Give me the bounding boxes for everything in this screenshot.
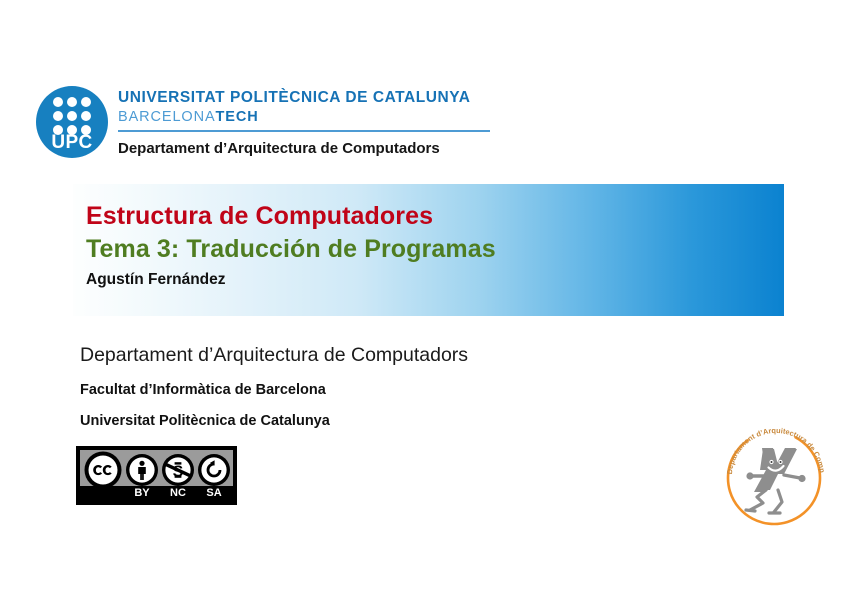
- barcelonatech-brand: BARCELONATECH: [118, 108, 548, 126]
- mascot-hand-left: [746, 472, 753, 479]
- upc-dot: [67, 97, 77, 107]
- cc-label-sa: SA: [196, 486, 232, 501]
- upc-dot: [81, 97, 91, 107]
- upc-dot: [53, 111, 63, 121]
- university-name: UNIVERSITAT POLITÈCNICA DE CATALUNYA: [118, 88, 548, 107]
- upc-wordmark-block: UNIVERSITAT POLITÈCNICA DE CATALUNYA BAR…: [118, 88, 548, 158]
- brand-suffix: TECH: [216, 109, 259, 125]
- cc-icon: [85, 452, 122, 489]
- upc-logo-wordmark: UPC: [36, 133, 108, 152]
- upc-dot: [67, 111, 77, 121]
- mascot-legs: [750, 490, 782, 512]
- nc-nocommercial-icon: S: [162, 454, 194, 486]
- brand-prefix: BARCELONA: [118, 109, 216, 125]
- author-name: Agustín Fernández: [86, 269, 496, 290]
- upc-dot-grid-icon: [53, 97, 91, 135]
- cc-label-nc: NC: [160, 486, 196, 501]
- header-divider: [118, 130, 490, 132]
- creative-commons-license-badge[interactable]: S BY NC SA: [76, 446, 237, 505]
- upc-header: UPC UNIVERSITAT POLITÈCNICA DE CATALUNYA…: [36, 86, 556, 166]
- cc-icon-row: S: [80, 450, 233, 490]
- title-text-stack: Estructura de Computadores Tema 3: Tradu…: [86, 200, 496, 290]
- affiliation-block: Departament d’Arquitectura de Computador…: [80, 342, 600, 431]
- sa-sharealike-icon: [198, 454, 230, 486]
- upc-dot: [53, 97, 63, 107]
- cc-icons-svg: S: [80, 450, 233, 490]
- course-title: Estructura de Computadores: [86, 200, 496, 233]
- by-person-icon: [126, 454, 158, 486]
- cc-label-row: BY NC SA: [80, 486, 233, 501]
- affiliation-university: Universitat Politècnica de Catalunya: [80, 411, 600, 431]
- dac-mascot-svg: Departament d’Arquitectura de Computador…: [716, 418, 832, 534]
- mascot-hand-right: [798, 475, 805, 482]
- slide-canvas: UPC UNIVERSITAT POLITÈCNICA DE CATALUNYA…: [0, 0, 848, 599]
- topic-title: Tema 3: Traducción de Programas: [86, 233, 496, 266]
- upc-logo-icon: UPC: [36, 86, 108, 158]
- upc-dot: [81, 111, 91, 121]
- header-department-name: Departament d’Arquitectura de Computador…: [118, 139, 548, 158]
- affiliation-faculty: Facultat d’Informàtica de Barcelona: [80, 380, 600, 400]
- affiliation-department: Departament d’Arquitectura de Computador…: [80, 342, 600, 368]
- dac-mascot-logo: Departament d’Arquitectura de Computador…: [716, 418, 832, 534]
- cc-label-by: BY: [124, 486, 160, 501]
- title-gradient-band: Estructura de Computadores Tema 3: Tradu…: [73, 184, 784, 316]
